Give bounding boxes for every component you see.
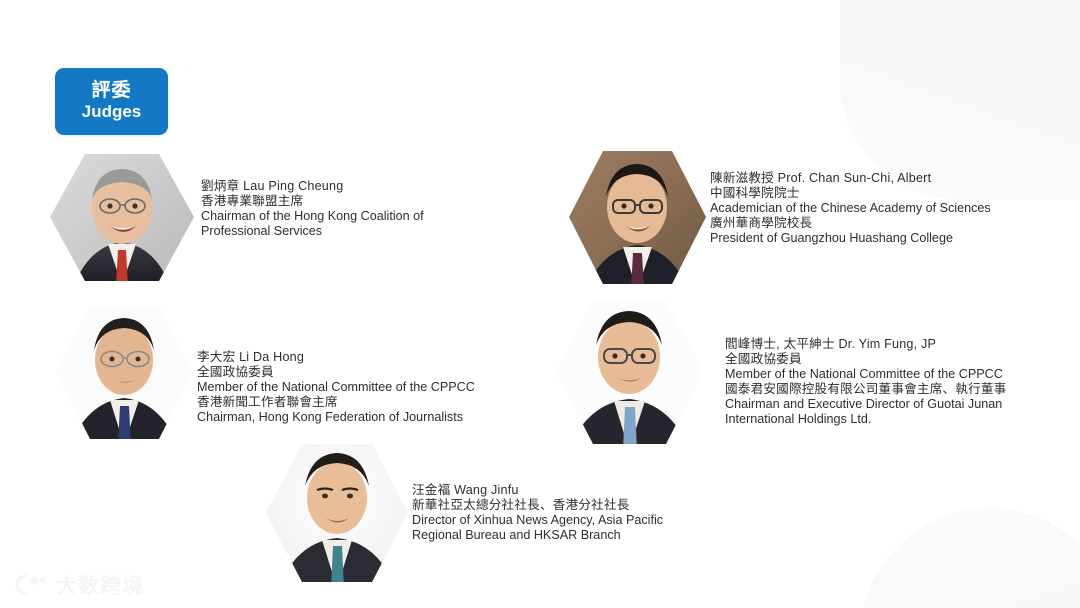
circle-logo-icon [10, 572, 52, 598]
judge-info-yim-fung: 閻峰博士, 太平紳士 Dr. Yim Fung, JP 全國政協委員 Membe… [725, 295, 1006, 426]
judge-card-lau-ping-cheung: 劉炳章 Lau Ping Cheung 香港專業聯盟主席 Chairman of… [48, 150, 424, 285]
slide-canvas: 評委 Judges [0, 0, 1080, 608]
judge-card-wang-jinfu: 汪金福 Wang Jinfu 新華社亞太總分社社長、香港分社社長 Directo… [262, 438, 663, 588]
judge-title-en-1: Academician of the Chinese Academy of Sc… [710, 201, 991, 216]
judge-info-wang-jinfu: 汪金福 Wang Jinfu 新華社亞太總分社社長、香港分社社長 Directo… [412, 438, 663, 543]
judge-name: 閻峰博士, 太平紳士 Dr. Yim Fung, JP [725, 337, 1006, 352]
judges-badge-label-cn: 評委 [91, 80, 131, 102]
judge-name: 李大宏 Li Da Hong [197, 350, 475, 365]
judge-title-en-1: Chairman of the Hong Kong Coalition of [201, 209, 424, 224]
judge-title-en-1b: Professional Services [201, 224, 424, 239]
portrait-li-da-hong [52, 300, 197, 445]
portrait-yim-fung [552, 295, 707, 450]
judge-card-chan-sun-chi-albert: 陳新滋教授 Prof. Chan Sun-Chi, Albert 中國科學院院士… [565, 145, 991, 290]
judge-info-li-da-hong: 李大宏 Li Da Hong 全國政協委員 Member of the Nati… [197, 300, 475, 425]
judge-title-en-1b: Regional Bureau and HKSAR Branch [412, 528, 663, 543]
judge-title-cn-2: 國泰君安國際控股有限公司董事會主席、執行董事 [725, 382, 1006, 397]
judge-card-yim-fung: 閻峰博士, 太平紳士 Dr. Yim Fung, JP 全國政協委員 Membe… [552, 295, 1006, 450]
judge-title-cn-1: 香港專業聯盟主席 [201, 194, 424, 209]
judge-name: 陳新滋教授 Prof. Chan Sun-Chi, Albert [710, 171, 991, 186]
judge-title-en-2: President of Guangzhou Huashang College [710, 231, 991, 246]
judge-title-en-1: Member of the National Committee of the … [197, 380, 475, 395]
judge-title-en-2: Chairman, Hong Kong Federation of Journa… [197, 410, 475, 425]
judge-title-en-2b: International Holdings Ltd. [725, 412, 1006, 427]
watermark-text: 大数跨境 [56, 570, 144, 600]
watermark: 大数跨境 [10, 570, 144, 600]
judge-title-en-1: Member of the National Committee of the … [725, 367, 1006, 382]
judges-badge-label-en: Judges [82, 101, 142, 123]
judge-card-li-da-hong: 李大宏 Li Da Hong 全國政協委員 Member of the Nati… [52, 300, 475, 445]
judge-title-cn-1: 中國科學院院士 [710, 186, 991, 201]
judge-name: 劉炳章 Lau Ping Cheung [201, 179, 424, 194]
judge-name: 汪金福 Wang Jinfu [412, 483, 663, 498]
judge-title-cn-2: 香港新聞工作者聯會主席 [197, 395, 475, 410]
judge-title-cn-1: 全國政協委員 [725, 352, 1006, 367]
judges-badge: 評委 Judges [55, 68, 168, 135]
judge-title-cn-1: 新華社亞太總分社社長、香港分社社長 [412, 498, 663, 513]
judge-title-cn-2: 廣州華商學院校長 [710, 216, 991, 231]
judge-info-lau-ping-cheung: 劉炳章 Lau Ping Cheung 香港專業聯盟主席 Chairman of… [201, 150, 424, 239]
judge-title-en-2: Chairman and Executive Director of Guota… [725, 397, 1006, 412]
portrait-chan-sun-chi-albert [565, 145, 710, 290]
portrait-lau-ping-cheung [48, 150, 196, 285]
portrait-wang-jinfu [262, 438, 412, 588]
judge-info-chan-sun-chi-albert: 陳新滋教授 Prof. Chan Sun-Chi, Albert 中國科學院院士… [710, 145, 991, 246]
judge-title-cn-1: 全國政協委員 [197, 365, 475, 380]
background-shape-bottom-right [860, 508, 1080, 608]
judge-title-en-1: Director of Xinhua News Agency, Asia Pac… [412, 513, 663, 528]
